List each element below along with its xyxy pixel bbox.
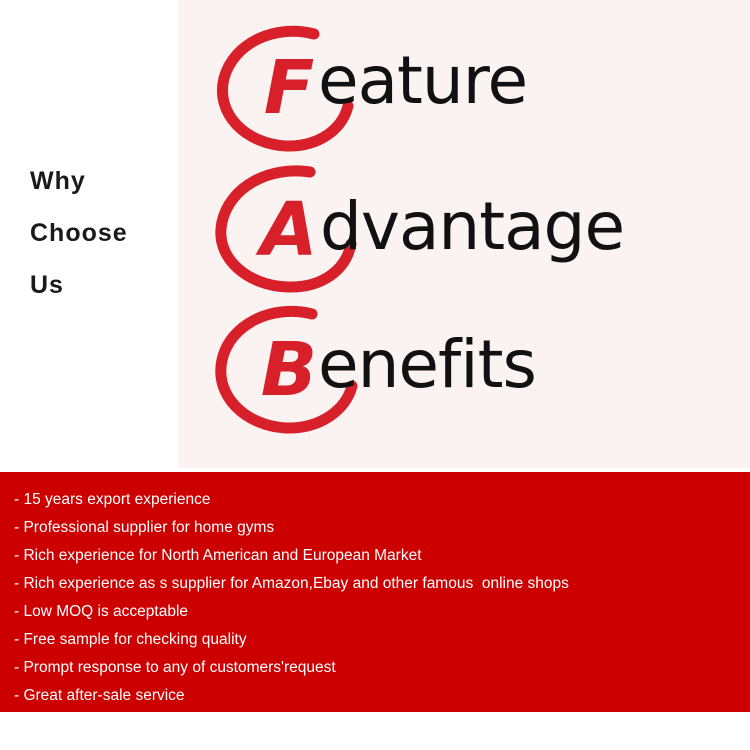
why-choose-us-heading: Why Choose Us: [30, 155, 180, 311]
list-item: - Free sample for checking quality: [14, 626, 750, 654]
benefits-list-panel: - 15 years export experience - Professio…: [0, 472, 750, 712]
list-item: - Rich experience as s supplier for Amaz…: [14, 570, 750, 598]
fab-word: enefits: [318, 326, 536, 403]
fab-row-advantage: A dvantage: [178, 150, 750, 306]
fab-word: eature: [318, 42, 527, 119]
list-item: - Rich experience for North American and…: [14, 542, 750, 570]
list-item: - Great after-sale service: [14, 682, 750, 710]
list-item: - Professional supplier for home gyms: [14, 514, 750, 542]
list-item: - Prompt response to any of customers're…: [14, 654, 750, 682]
heading-line-3: Us: [30, 259, 180, 311]
fab-row-benefits: B enefits: [178, 290, 750, 446]
fab-word: dvantage: [320, 188, 624, 265]
list-item: - Low MOQ is acceptable: [14, 598, 750, 626]
why-choose-us-section: Why Choose Us F eature A dvantage: [0, 0, 750, 468]
heading-line-1: Why: [30, 155, 180, 207]
bottom-white-strip: [0, 712, 750, 750]
list-item: - 15 years export experience: [14, 486, 750, 514]
fab-panel: F eature A dvantage B enefits: [178, 0, 750, 468]
fab-row-feature: F eature: [178, 8, 750, 164]
heading-line-2: Choose: [30, 207, 180, 259]
